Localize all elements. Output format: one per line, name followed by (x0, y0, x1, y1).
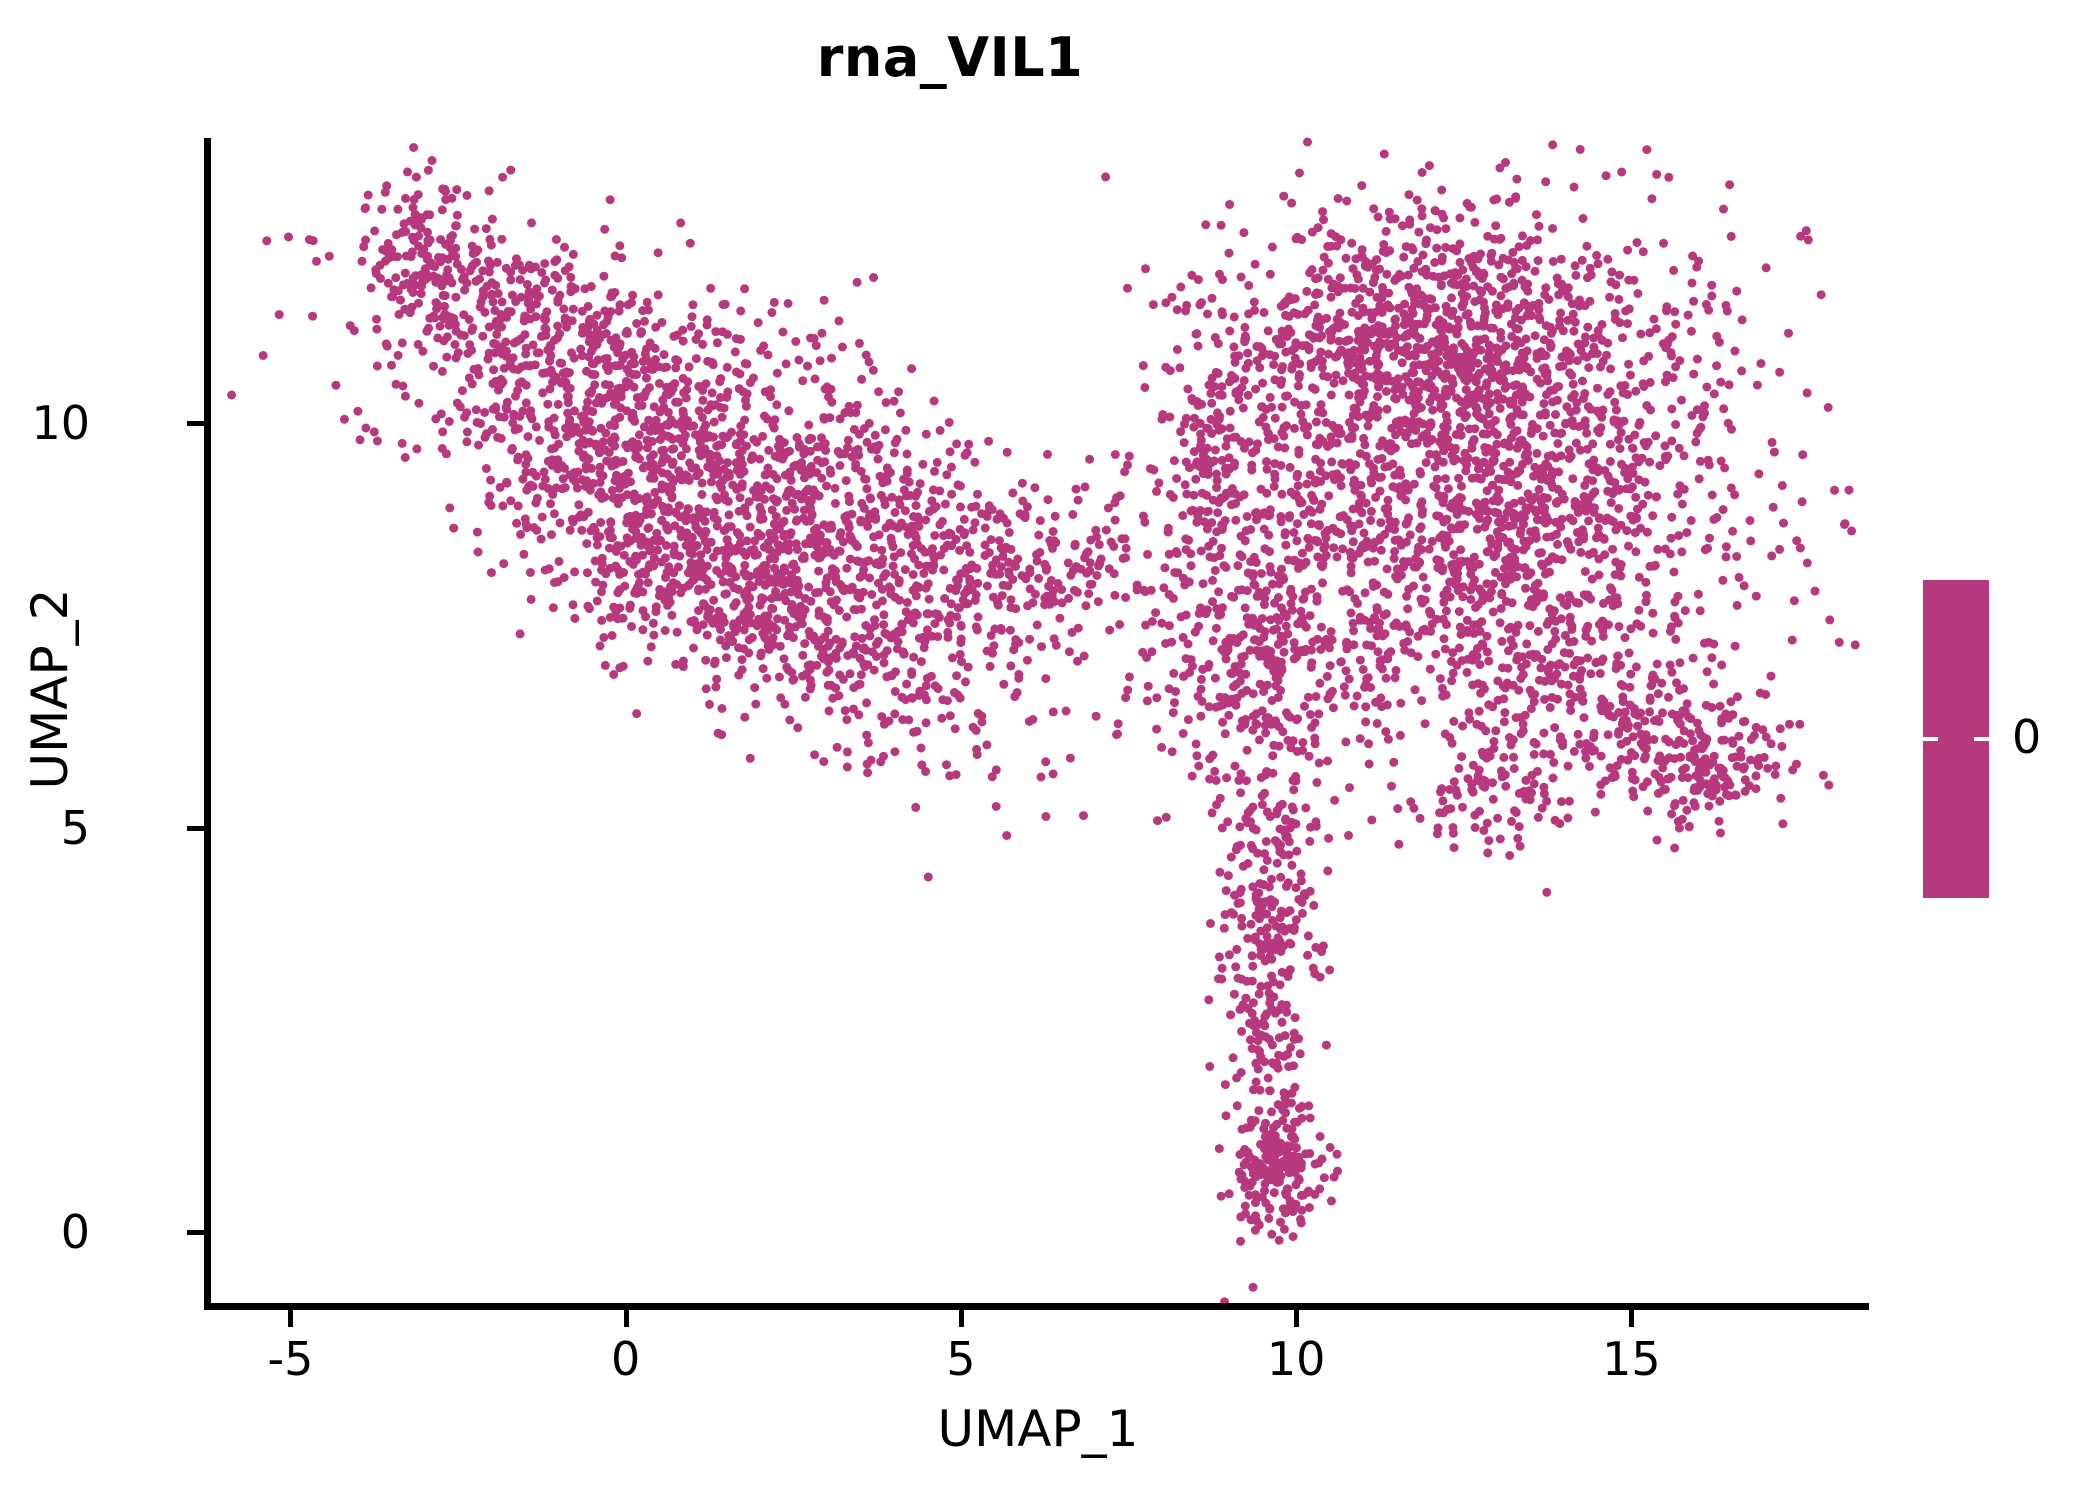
x-tick-label: 0 (611, 1332, 640, 1386)
x-tick-mark (288, 1310, 293, 1327)
y-tick-mark (187, 421, 204, 426)
colorbar-tick-left (1923, 737, 1938, 741)
x-tick-mark (1294, 1310, 1299, 1327)
y-tick-mark (187, 826, 204, 831)
scatter-points-layer (210, 140, 1866, 1305)
colorbar (1923, 580, 1989, 898)
colorbar-tick-label: 0 (2012, 710, 2041, 764)
y-axis-spine (204, 138, 211, 1310)
plot-area (210, 140, 1866, 1305)
x-tick-mark (1629, 1310, 1634, 1327)
page-title: rna_VIL1 (0, 26, 1900, 89)
x-tick-label: 5 (946, 1332, 975, 1386)
x-tick-mark (959, 1310, 964, 1327)
x-tick-mark (624, 1310, 629, 1327)
x-tick-label: -5 (268, 1332, 314, 1386)
figure-canvas: rna_VIL1 -5051015 0510 UMAP_1 UMAP_2 0 (0, 0, 2100, 1500)
y-axis-label: UMAP_2 (21, 389, 79, 989)
x-axis-spine (204, 1303, 1869, 1310)
x-axis-label: UMAP_1 (210, 1400, 1866, 1458)
y-tick-mark (187, 1230, 204, 1235)
x-tick-label: 10 (1267, 1332, 1326, 1386)
colorbar-tick-right (1974, 737, 1989, 741)
x-tick-label: 15 (1602, 1332, 1661, 1386)
y-tick-label: 0 (61, 1205, 90, 1259)
